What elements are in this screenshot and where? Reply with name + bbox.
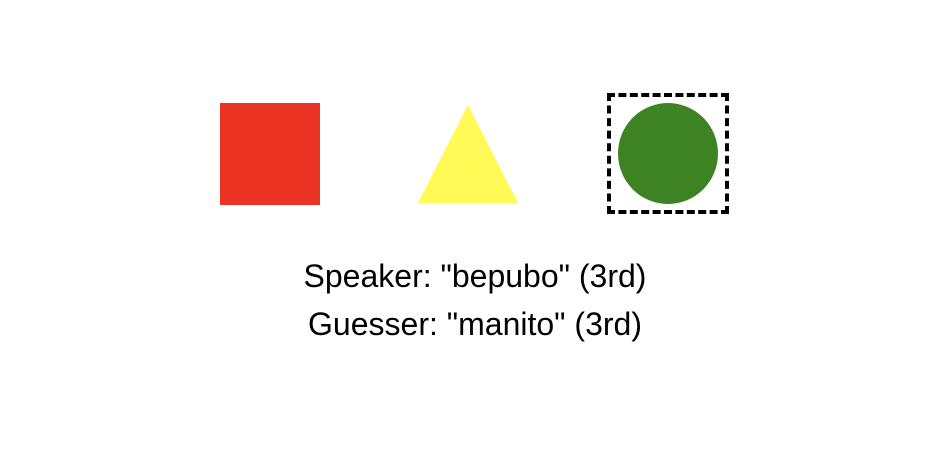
- shape-inner-1: [209, 93, 331, 214]
- caption-block: Speaker: "bepubo" (3rd) Guesser: "manito…: [0, 252, 950, 348]
- shape-inner-3: [607, 93, 729, 214]
- triangle-icon[interactable]: [418, 105, 518, 203]
- shape-row: [0, 0, 950, 240]
- speaker-utterance: Speaker: "bepubo" (3rd): [0, 252, 950, 300]
- shape-inner-2: [407, 93, 529, 214]
- shape-slot-1[interactable]: [209, 93, 331, 215]
- square-icon[interactable]: [220, 103, 320, 205]
- scene-canvas: Speaker: "bepubo" (3rd) Guesser: "manito…: [0, 0, 950, 456]
- guesser-utterance: Guesser: "manito" (3rd): [0, 300, 950, 348]
- circle-icon[interactable]: [618, 103, 718, 204]
- shape-slot-3[interactable]: [607, 93, 729, 215]
- shape-slot-2[interactable]: [407, 93, 529, 215]
